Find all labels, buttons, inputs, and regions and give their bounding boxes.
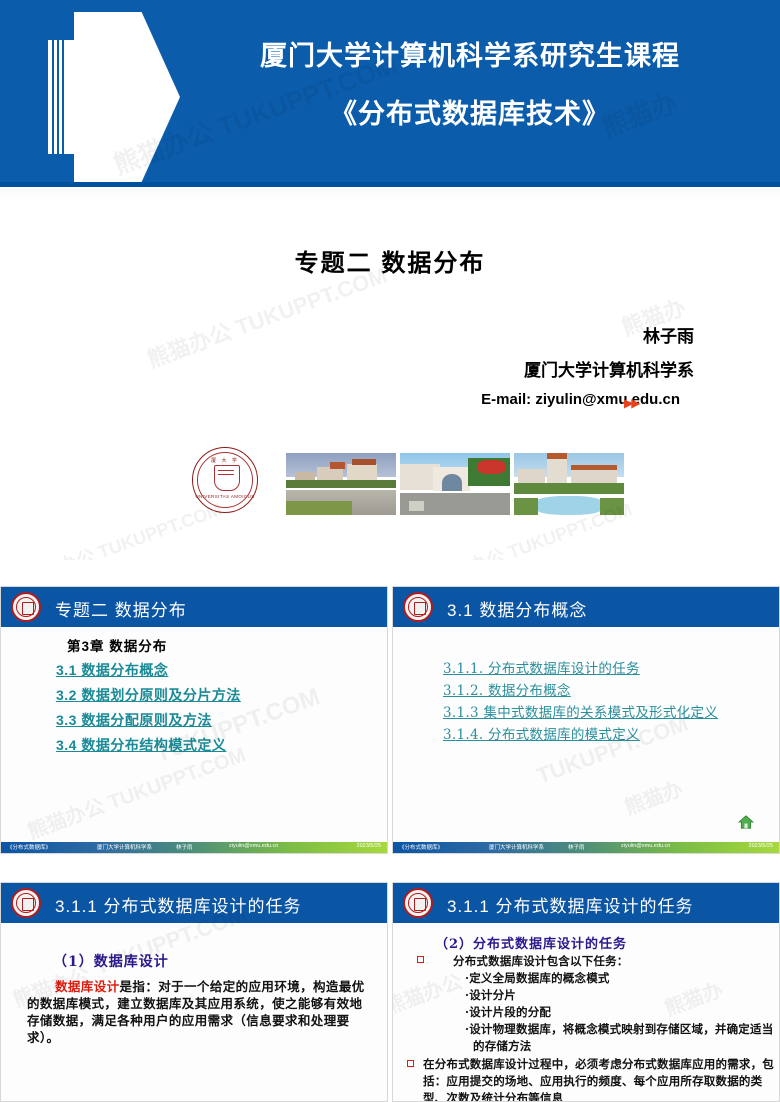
home-icon[interactable] <box>738 815 754 829</box>
slide-task-right[interactable]: 3.1.1 分布式数据库设计的任务 （2）分布式数据库设计的任务 分布式数据库设… <box>392 882 780 1102</box>
slide-task-left-header-text: 3.1.1 分布式数据库设计的任务 <box>55 892 302 917</box>
university-seal-icon <box>403 592 433 622</box>
footer-department: 厦门大学计算机科学系 <box>489 843 544 851</box>
section-title: （2）分布式数据库设计的任务 <box>435 933 627 952</box>
slide-task-right-header-text: 3.1.1 分布式数据库设计的任务 <box>447 892 694 917</box>
footer-email: ziyulin@xmu.edu.cn <box>621 843 670 849</box>
slide-concept-header-text: 3.1 数据分布概念 <box>447 596 587 621</box>
toc-link-3-1-2[interactable]: 3.1.2. 数据分布概念 <box>443 679 571 699</box>
author-name: 林子雨 <box>0 322 694 347</box>
toc-link-3-1-3[interactable]: 3.1.3 集中式数据库的关系模式及形式化定义 <box>443 701 718 721</box>
section-title: （1）数据库设计 <box>53 951 169 971</box>
chapter-heading: 第3章 数据分布 <box>67 635 167 655</box>
slide-toc-header: 专题二 数据分布 <box>1 587 387 627</box>
slide-task-left-body: （1）数据库设计 数据库设计是指：对于一个给定的应用环境，构造最优的数据库模式，… <box>1 923 387 1101</box>
toc-link-3-1-1[interactable]: 3.1.1. 分布式数据库设计的任务 <box>443 657 640 677</box>
campus-photo-stadium <box>286 453 396 515</box>
slide-concept-header: 3.1 数据分布概念 <box>393 587 779 627</box>
author-department: 厦门大学计算机科学系 <box>0 356 694 381</box>
university-seal-icon <box>11 592 41 622</box>
highlight-term: 数据库设计 <box>55 979 120 994</box>
footer-department: 厦门大学计算机科学系 <box>97 843 152 851</box>
toc-link-3-2[interactable]: 3.2 数据划分原则及分片方法 <box>56 685 241 705</box>
footer-date: 2023/5/25 <box>749 843 773 849</box>
book-arrow-emblem <box>48 12 180 182</box>
toc-link-3-4[interactable]: 3.4 数据分布结构模式定义 <box>56 735 226 755</box>
watermark: 熊猫办 <box>620 773 686 821</box>
subitem-2: ·设计分片 <box>465 987 516 1003</box>
slide-toc[interactable]: 专题二 数据分布 第3章 数据分布 3.1 数据分布概念 3.2 数据划分原则及… <box>0 586 388 854</box>
watermark: 熊猫办 <box>660 974 726 1022</box>
slide-concept-body: 3.1.1. 分布式数据库设计的任务 3.1.2. 数据分布概念 3.1.3 集… <box>393 627 779 853</box>
subitem-4: ·设计物理数据库，将概念模式映射到存储区域，并确定适当 <box>465 1021 773 1037</box>
banner-title-line1: 厦门大学计算机科学系研究生课程 <box>170 34 770 73</box>
author-email: E-mail: ziyulin@xmu.edu.cn <box>0 391 680 408</box>
slide-toc-body: 第3章 数据分布 3.1 数据分布概念 3.2 数据划分原则及分片方法 3.3 … <box>1 627 387 853</box>
university-seal-icon <box>403 888 433 918</box>
footer-book: 《分布式数据库》 <box>7 843 51 851</box>
footer-book: 《分布式数据库》 <box>399 843 443 851</box>
subitem-1: ·定义全局数据库的概念模式 <box>465 970 610 986</box>
footer-date: 2023/5/25 <box>357 843 381 849</box>
university-seal: 厦 大 学 UNIVERSITAS AMOICUS <box>192 447 258 513</box>
bullet-2-text: 在分布式数据库设计过程中，必须考虑分布式数据库应用的需求，包括：应用提交的场地、… <box>423 1056 775 1102</box>
slide-task-left[interactable]: 3.1.1 分布式数据库设计的任务 （1）数据库设计 数据库设计是指：对于一个给… <box>0 882 388 1102</box>
subitem-5: 的存储方法 <box>473 1038 532 1054</box>
title-slide: 厦门大学计算机科学系研究生课程 《分布式数据库技术》 熊猫办公 TUKUPPT.… <box>0 0 780 560</box>
footer-email: ziyulin@xmu.edu.cn <box>229 843 278 849</box>
seal-top-text: 厦 大 学 <box>193 457 257 464</box>
toc-link-3-1[interactable]: 3.1 数据分布概念 <box>56 660 168 680</box>
seal-bottom-text: UNIVERSITAS AMOICUS <box>193 494 257 499</box>
bullet-1-text: 分布式数据库设计包含以下任务： <box>453 953 629 969</box>
slide-concept[interactable]: 3.1 数据分布概念 3.1.1. 分布式数据库设计的任务 3.1.2. 数据分… <box>392 586 780 854</box>
watermark: 熊猫办公 <box>392 965 466 1020</box>
page-title: 专题二 数据分布 <box>0 243 780 278</box>
double-chevron-right-icon: ▶▶ <box>624 396 638 410</box>
university-seal-icon <box>11 888 41 918</box>
toc-link-3-1-4[interactable]: 3.1.4. 分布式数据库的模式定义 <box>443 723 640 743</box>
banner-title-line2: 《分布式数据库技术》 <box>170 92 770 131</box>
footer-author: 林子雨 <box>176 843 193 851</box>
watermark: 熊猫办公 TUKUPPT.COM <box>22 495 225 560</box>
slide-task-right-header: 3.1.1 分布式数据库设计的任务 <box>393 883 779 923</box>
footer-author: 林子雨 <box>568 843 585 851</box>
slide-task-right-body: （2）分布式数据库设计的任务 分布式数据库设计包含以下任务： ·定义全局数据库的… <box>393 923 779 1101</box>
slide-toc-header-text: 专题二 数据分布 <box>55 596 187 621</box>
campus-photo-gate <box>400 453 510 515</box>
bullet-square-icon <box>407 1060 414 1067</box>
campus-photo-lake <box>514 453 624 515</box>
slide-task-left-header: 3.1.1 分布式数据库设计的任务 <box>1 883 387 923</box>
slide-concept-footer: 《分布式数据库》 厦门大学计算机科学系 林子雨 ziyulin@xmu.edu.… <box>393 842 779 853</box>
bullet-square-icon <box>417 956 424 963</box>
subitem-3: ·设计片段的分配 <box>465 1004 551 1020</box>
toc-link-3-3[interactable]: 3.3 数据分配原则及方法 <box>56 710 212 730</box>
slide-toc-footer: 《分布式数据库》 厦门大学计算机科学系 林子雨 ziyulin@xmu.edu.… <box>1 842 387 853</box>
banner-underline <box>0 187 780 197</box>
